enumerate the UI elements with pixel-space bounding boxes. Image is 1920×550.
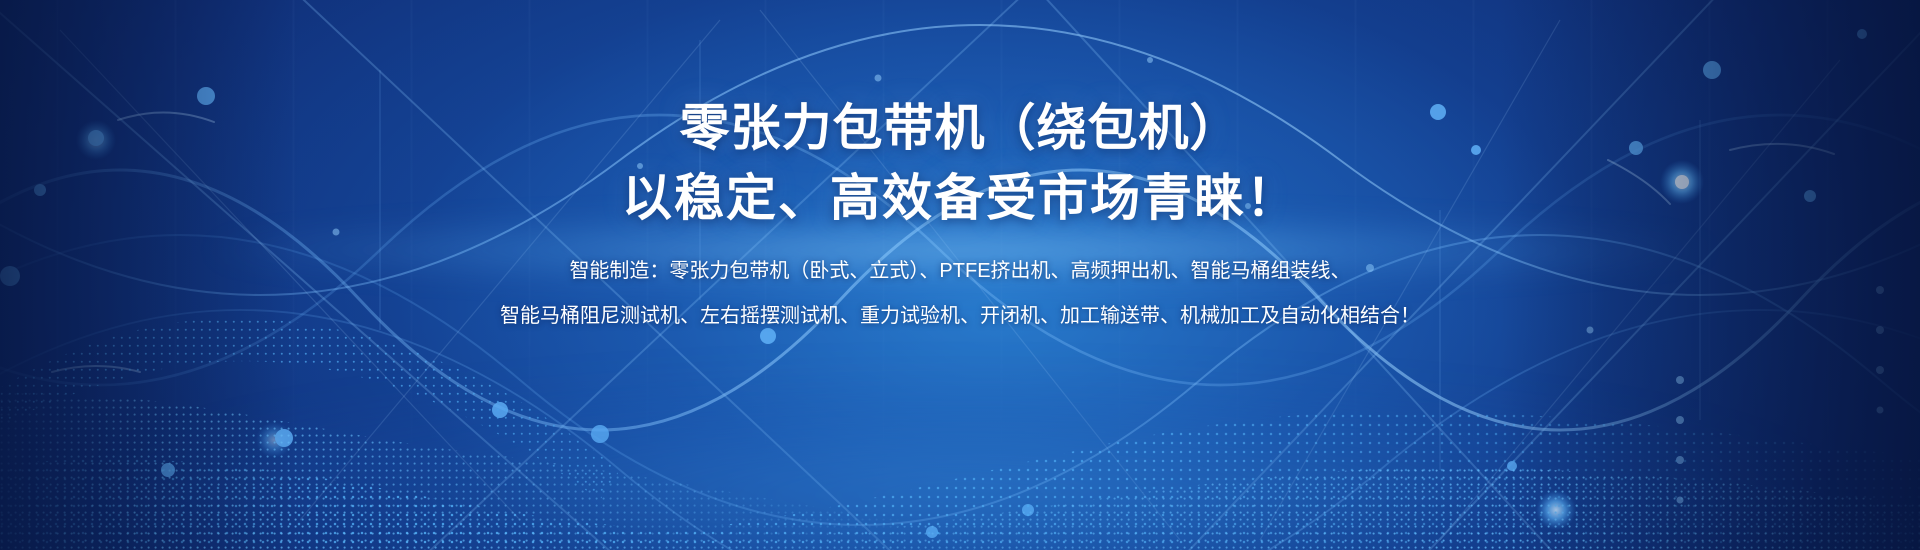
banner-headline-line2: 以稳定、高效备受市场青睐！ — [622, 166, 1298, 230]
banner-subtitle-line1: 智能制造：零张力包带机（卧式、立式）、PTFE挤出机、高频押出机、智能马桶组装线… — [569, 256, 1350, 287]
hero-banner: 零张力包带机（绕包机） 以稳定、高效备受市场青睐！ 智能制造：零张力包带机（卧式… — [0, 0, 1920, 550]
banner-subtitle-line2: 智能马桶阻尼测试机、左右摇摆测试机、重力试验机、开闭机、加工输送带、机械加工及自… — [500, 301, 1420, 332]
banner-content: 零张力包带机（绕包机） 以稳定、高效备受市场青睐！ 智能制造：零张力包带机（卧式… — [0, 0, 1920, 550]
banner-headline-line1: 零张力包带机（绕包机） — [680, 96, 1241, 160]
